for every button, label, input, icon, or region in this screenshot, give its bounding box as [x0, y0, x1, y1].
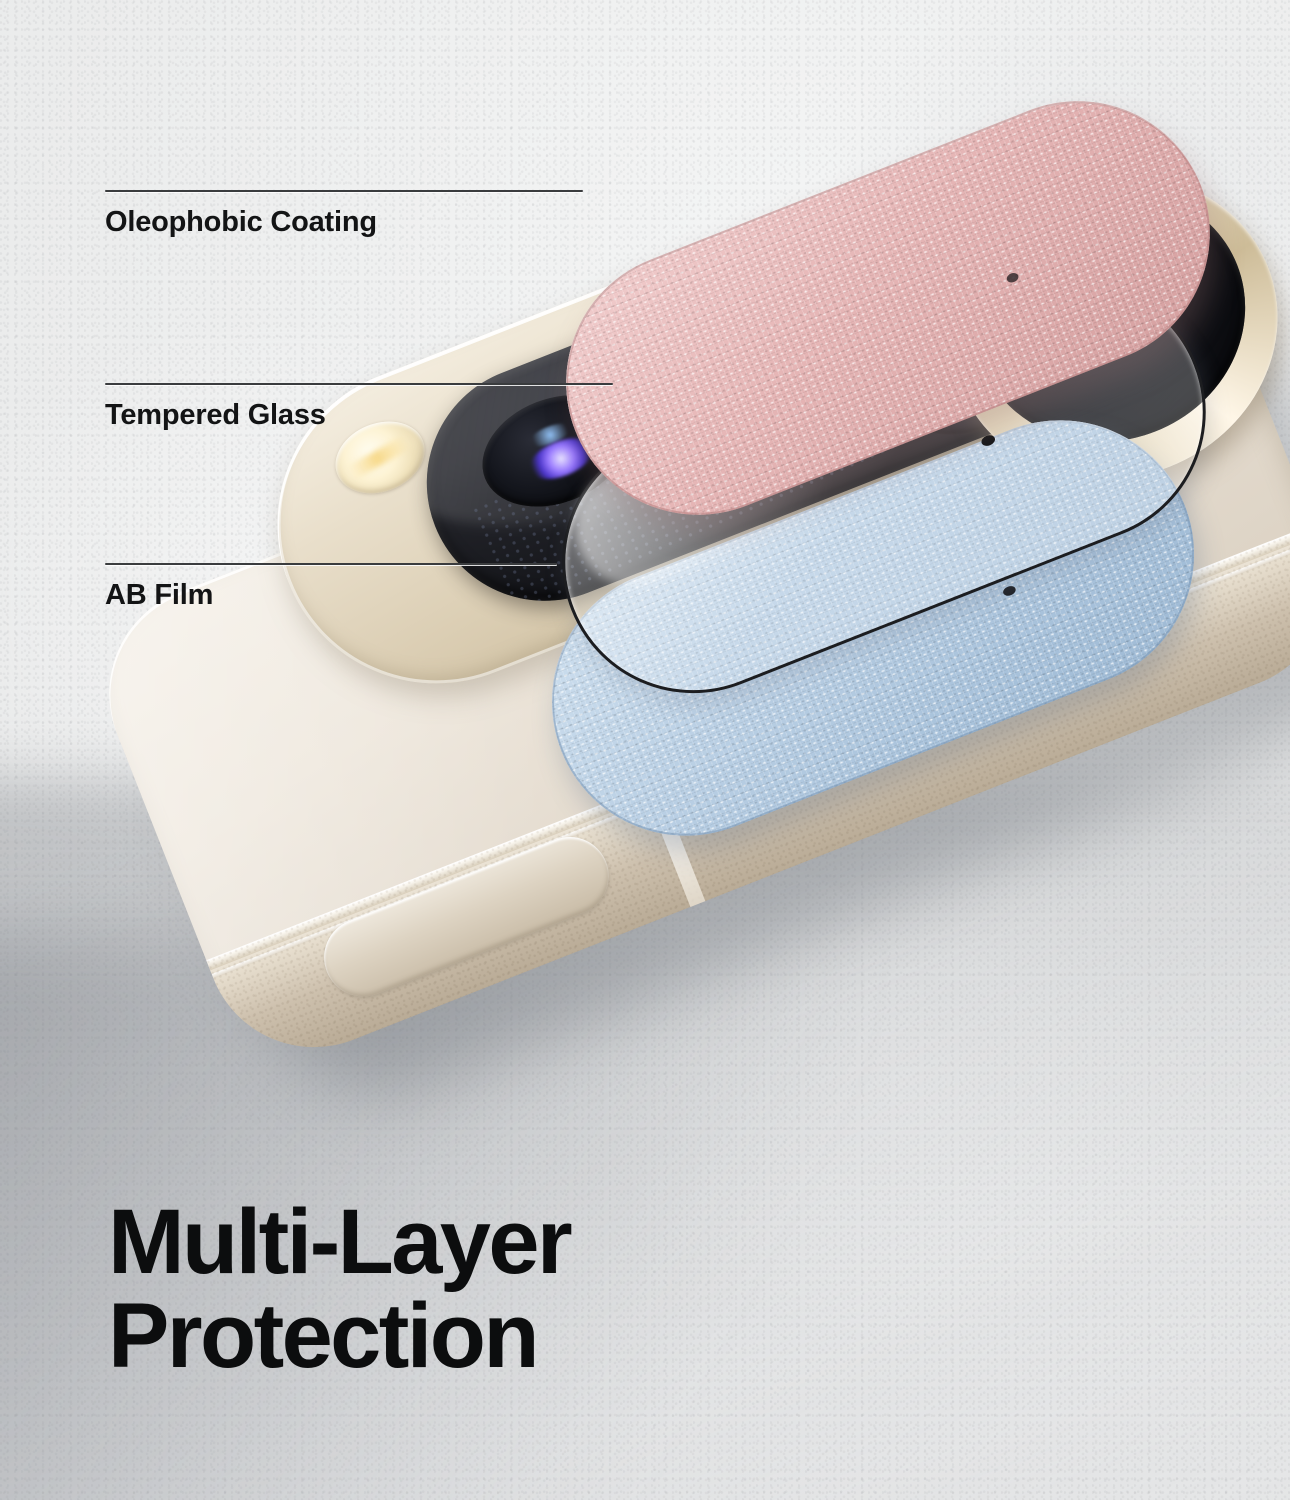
headline-line-2: Protection	[108, 1290, 570, 1384]
callout-label-tempered-glass: Tempered Glass	[105, 401, 613, 430]
callout-leader-line	[105, 190, 583, 192]
callout-tempered-glass: Tempered Glass	[105, 383, 613, 430]
headline-line-1: Multi-Layer	[108, 1196, 570, 1290]
callout-leader-line	[105, 383, 613, 385]
product-illustration: Oleophobic Coating Tempered Glass AB Fil…	[0, 0, 1290, 1500]
callout-ab-film: AB Film	[105, 563, 557, 610]
callout-label-oleophobic-coating: Oleophobic Coating	[105, 208, 583, 237]
callout-label-ab-film: AB Film	[105, 581, 557, 610]
callout-leader-line	[105, 563, 557, 565]
callout-oleophobic-coating: Oleophobic Coating	[105, 190, 583, 237]
headline: Multi-Layer Protection	[108, 1196, 570, 1384]
tempered-glass-sensor-cutout	[979, 433, 996, 447]
